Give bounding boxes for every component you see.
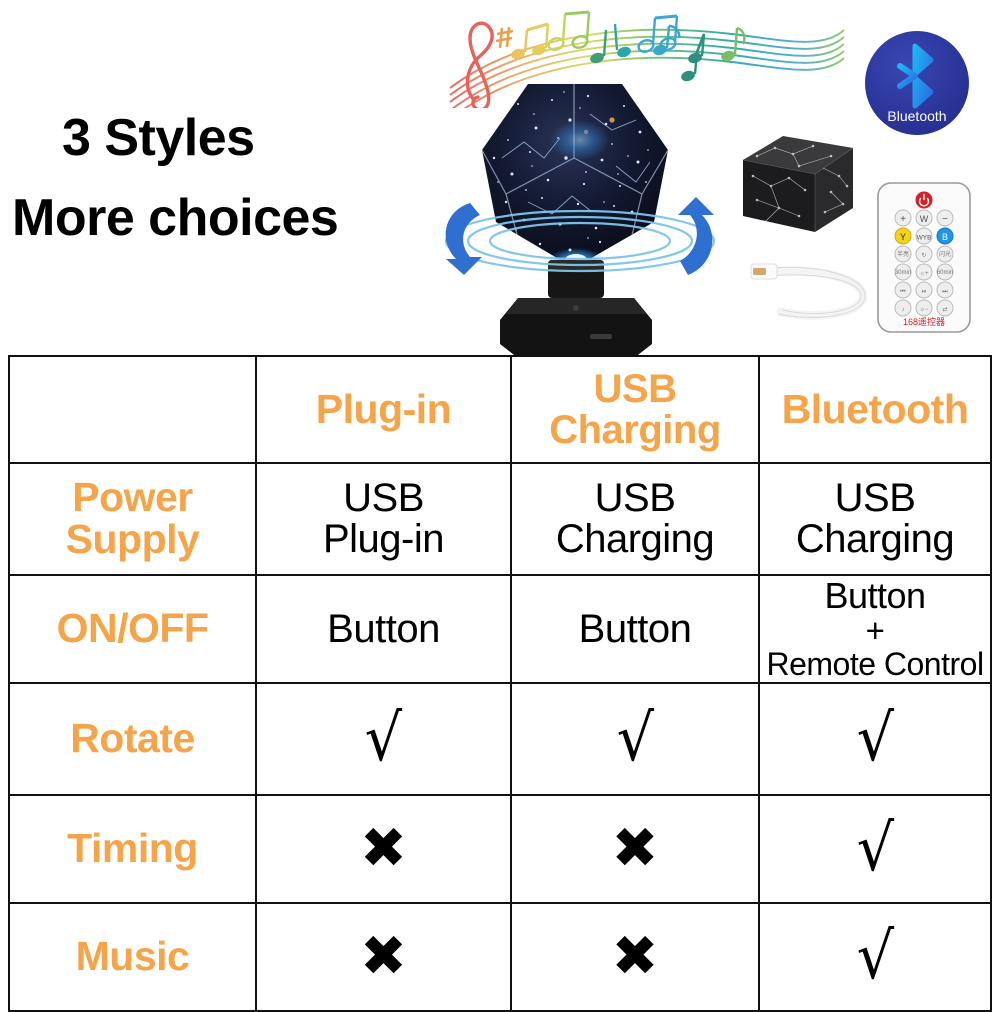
remote-model-label: 168遥控器 xyxy=(903,316,945,327)
check-mark-icon: √ xyxy=(856,707,894,771)
check-mark-icon: √ xyxy=(856,925,894,989)
svg-text:⇄: ⇄ xyxy=(942,306,947,313)
cell-power-supply-usb: USB Charging xyxy=(511,463,759,575)
cell-music-plugin: ✖ xyxy=(256,903,511,1011)
svg-text:+: + xyxy=(900,214,906,225)
column-header-plugin: Plug-in xyxy=(256,356,511,463)
svg-text:Y: Y xyxy=(900,232,906,242)
row-label-on-off: ON/OFF xyxy=(9,575,256,683)
hero-banner: 3 Styles More choices xyxy=(0,0,1000,355)
cell-power-supply-bluetooth: USB Charging xyxy=(759,463,991,575)
remote-control-icon: + W − Y WYB B 半亮↻闪光 30min☼+60min ⏮⏯⏭ ♪☼−… xyxy=(873,180,975,335)
cell-timing-plugin: ✖ xyxy=(256,795,511,903)
bluetooth-icon: Bluetooth xyxy=(862,28,972,138)
table-corner-cell xyxy=(9,356,256,463)
svg-text:☼+: ☼+ xyxy=(919,271,928,277)
cell-on-off-bluetooth: Button + Remote Control xyxy=(759,575,991,683)
svg-text:⏮: ⏮ xyxy=(900,289,906,295)
cell-power-supply-plugin-line1: USB xyxy=(259,478,508,519)
usb-cable-icon xyxy=(737,250,877,330)
svg-text:⏭: ⏭ xyxy=(942,289,948,295)
cell-timing-usb: ✖ xyxy=(511,795,759,903)
svg-text:−: − xyxy=(942,214,948,225)
svg-text:60min: 60min xyxy=(937,270,953,276)
svg-text:30min: 30min xyxy=(895,270,911,276)
svg-text:半亮: 半亮 xyxy=(897,250,909,258)
cell-on-off-usb: Button xyxy=(511,575,759,683)
column-header-usb-charging-line2: Charging xyxy=(514,410,756,451)
cell-power-supply-plugin-line2: Plug-in xyxy=(259,519,508,560)
cell-on-off-bluetooth-line3: Remote Control xyxy=(762,648,988,681)
svg-text:♪: ♪ xyxy=(902,307,905,313)
cross-mark-icon: ✖ xyxy=(612,929,659,985)
cell-music-bluetooth: √ xyxy=(759,903,991,1011)
table-header-row: Plug-in USB Charging Bluetooth xyxy=(9,356,991,463)
table-row-rotate: Rotate √ √ √ xyxy=(9,683,991,795)
bluetooth-badge-label: Bluetooth xyxy=(887,108,946,124)
table-row-power-supply: Power Supply USB Plug-in USB Charging US… xyxy=(9,463,991,575)
column-header-usb-charging-line1: USB xyxy=(514,369,756,410)
constellation-gift-box-icon xyxy=(735,128,860,248)
svg-text:↻: ↻ xyxy=(921,252,926,259)
cell-power-supply-usb-line1: USB xyxy=(514,478,756,519)
cell-power-supply-usb-line2: Charging xyxy=(514,519,756,560)
headline-line-2: More choices xyxy=(12,188,338,248)
row-label-rotate: Rotate xyxy=(9,683,256,795)
cell-power-supply-bluetooth-line1: USB xyxy=(762,478,988,519)
check-mark-icon: √ xyxy=(365,707,403,771)
row-label-power-supply: Power Supply xyxy=(9,463,256,575)
table-row-on-off: ON/OFF Button Button Button + Remote Con… xyxy=(9,575,991,683)
cell-power-supply-bluetooth-line2: Charging xyxy=(762,519,988,560)
row-label-timing: Timing xyxy=(9,795,256,903)
check-mark-icon: √ xyxy=(856,817,894,881)
cell-rotate-plugin: √ xyxy=(256,683,511,795)
cell-power-supply-plugin: USB Plug-in xyxy=(256,463,511,575)
cross-mark-icon: ✖ xyxy=(360,929,407,985)
cell-on-off-bluetooth-line2: + xyxy=(762,614,988,648)
svg-text:W: W xyxy=(920,214,929,224)
cell-on-off-bluetooth-line1: Button xyxy=(762,578,988,615)
row-label-music: Music xyxy=(9,903,256,1011)
cross-mark-icon: ✖ xyxy=(612,821,659,877)
column-header-bluetooth: Bluetooth xyxy=(759,356,991,463)
headline-line-1: 3 Styles xyxy=(62,108,255,168)
cell-rotate-bluetooth: √ xyxy=(759,683,991,795)
cross-mark-icon: ✖ xyxy=(360,821,407,877)
row-label-power-supply-line2: Supply xyxy=(12,519,253,561)
check-mark-icon: √ xyxy=(616,707,654,771)
table-row-music: Music ✖ ✖ √ xyxy=(9,903,991,1011)
rotation-arrows-icon xyxy=(430,185,730,300)
cell-rotate-usb: √ xyxy=(511,683,759,795)
svg-text:☼−: ☼− xyxy=(919,307,928,313)
svg-text:WYB: WYB xyxy=(917,235,932,242)
row-label-power-supply-line1: Power xyxy=(12,477,253,519)
cell-on-off-plugin: Button xyxy=(256,575,511,683)
comparison-table: Plug-in USB Charging Bluetooth Power Sup… xyxy=(8,355,992,1012)
cell-timing-bluetooth: √ xyxy=(759,795,991,903)
svg-text:B: B xyxy=(942,232,948,242)
table-row-timing: Timing ✖ ✖ √ xyxy=(9,795,991,903)
cell-music-usb: ✖ xyxy=(511,903,759,1011)
svg-text:⏯: ⏯ xyxy=(922,289,927,295)
column-header-usb-charging: USB Charging xyxy=(511,356,759,463)
svg-text:闪光: 闪光 xyxy=(939,250,951,258)
